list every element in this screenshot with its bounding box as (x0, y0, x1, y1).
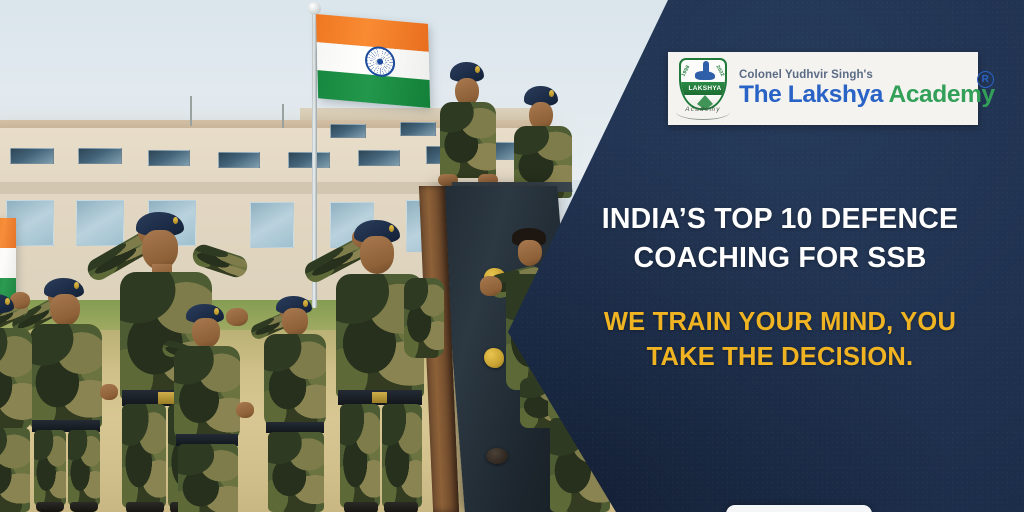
window (218, 152, 260, 168)
cadet-back-right (246, 296, 338, 512)
tagline-line-1: WE TRAIN YOUR MIND, YOU (560, 305, 1000, 340)
window (400, 122, 436, 136)
window (10, 148, 54, 164)
logo-name: The Lakshya Academy (739, 82, 995, 108)
cadet-far-left (0, 288, 56, 512)
bottom-cropped-element[interactable] (726, 505, 872, 512)
headline-line-1: INDIA’S TOP 10 DEFENCE (560, 200, 1000, 239)
flag-white-band (0, 248, 16, 278)
leg-left (340, 404, 380, 508)
leg-right (68, 430, 100, 506)
emblem-sub-label: Academy (673, 106, 733, 113)
boot (384, 502, 418, 512)
arm (404, 278, 444, 358)
torso (264, 334, 326, 428)
academy-logo-card[interactable]: LAKSHYA 1998 2022 Academy Colonel Yudhvi… (668, 52, 978, 125)
flagpole-finial (308, 2, 321, 15)
boot (344, 502, 378, 512)
tagline: WE TRAIN YOUR MIND, YOU TAKE THE DECISIO… (560, 305, 1000, 375)
logo-name-part1: The Lakshya (739, 81, 883, 108)
torso (174, 346, 240, 442)
leg-right (382, 404, 422, 508)
legs (178, 444, 238, 512)
face (360, 236, 394, 274)
window (330, 124, 366, 138)
legs (268, 432, 324, 512)
antenna-icon (190, 96, 192, 126)
emblem-banner-label: LAKSHYA (689, 85, 722, 92)
flag-saffron-band (0, 218, 16, 248)
logo-wordmark: Colonel Yudhvir Singh's The Lakshya Acad… (739, 69, 995, 108)
window (78, 148, 122, 164)
rider-on-horse-icon (694, 65, 716, 81)
boot (70, 502, 98, 512)
window (288, 152, 330, 168)
tagline-line-2: TAKE THE DECISION. (560, 340, 1000, 375)
logo-superline: Colonel Yudhvir Singh's (739, 69, 995, 82)
headline: INDIA’S TOP 10 DEFENCE COACHING FOR SSB (560, 200, 1000, 278)
indian-flag-icon (316, 14, 430, 108)
cadet-back-middle (160, 306, 256, 512)
legs (0, 428, 30, 512)
promo-banner: LAKSHYA 1998 2022 Academy Colonel Yudhvi… (0, 0, 1024, 512)
cadet-on-wall-left (436, 62, 498, 202)
torso (0, 328, 32, 430)
face (192, 318, 220, 348)
hand (100, 384, 118, 400)
window (148, 150, 190, 166)
boot (126, 502, 164, 512)
antenna-icon (282, 104, 284, 128)
hand (480, 276, 502, 296)
emblem-banner: LAKSHYA (679, 82, 727, 95)
window (250, 202, 294, 248)
headline-line-2: COACHING FOR SSB (560, 239, 1000, 278)
window (358, 150, 400, 166)
academy-emblem-icon: LAKSHYA 1998 2022 Academy (673, 56, 733, 121)
registered-trademark-icon: R (977, 71, 994, 88)
belt-buckle (372, 392, 387, 403)
face (282, 308, 308, 336)
torso (440, 102, 496, 178)
climbing-hold (486, 448, 508, 464)
face (518, 240, 542, 266)
